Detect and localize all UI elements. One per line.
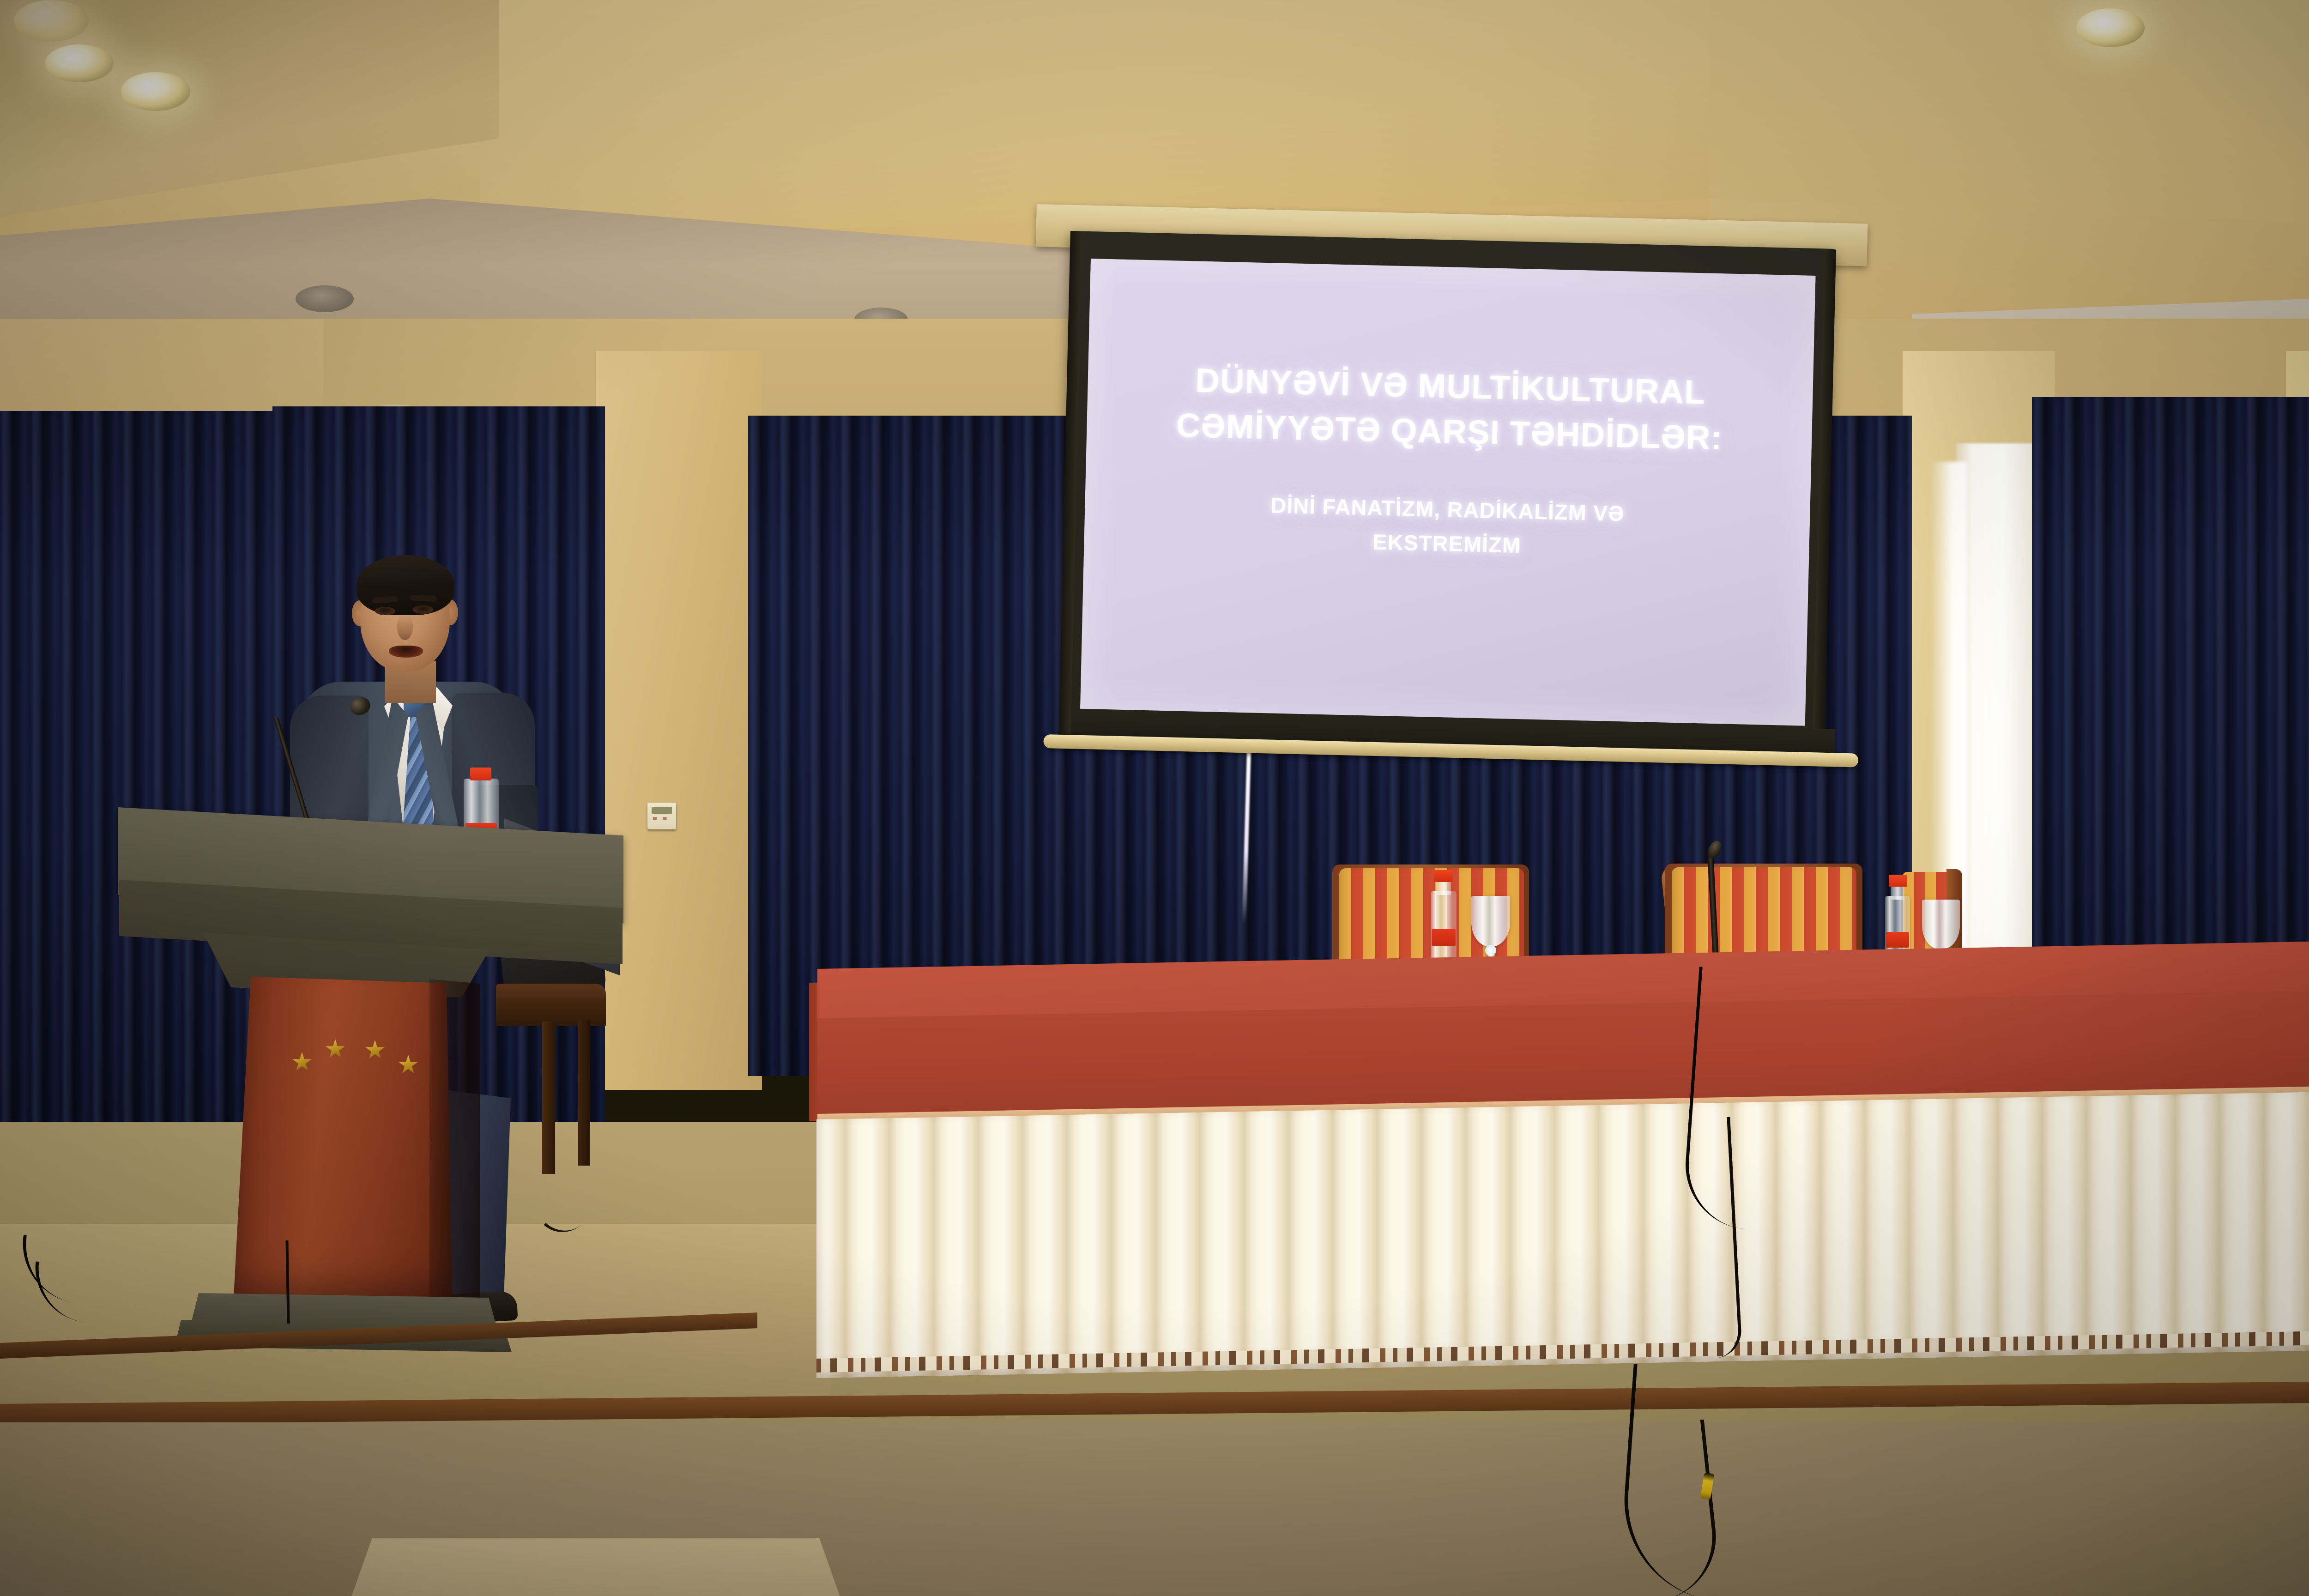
speaker-eye-right (413, 605, 433, 614)
head-table-skirt (816, 1090, 2309, 1378)
projection-screen-surface: DÜNYƏVİ VƏ MULTİKULTURAL CƏMİYYƏTƏ QARŞI… (1080, 259, 1816, 726)
water-bottle-left-cap (1434, 870, 1453, 882)
side-stool-leg (578, 1020, 590, 1166)
water-bottle-right-cap (1889, 875, 1907, 887)
floor (0, 1422, 2309, 1596)
side-stool-leg (542, 1022, 555, 1174)
wall-middle-pier (596, 351, 762, 1090)
water-bottle-right-label (1886, 932, 1909, 948)
downlight-icon (2076, 8, 2145, 47)
slide-content: DÜNYƏVİ VƏ MULTİKULTURAL CƏMİYYƏTƏ QARŞI… (1080, 259, 1816, 726)
downlight-icon (296, 285, 354, 312)
ceiling-center-panel (480, 0, 1727, 240)
downlight-icon (121, 72, 190, 111)
slide-subtitle-line-2: EKSTREMİZM (1372, 527, 1521, 561)
speaker-eye-left (375, 607, 395, 615)
goblet-right-bowl (1922, 900, 1960, 949)
slide-subtitle-line-1: DİNİ FANATİZM, RADİKALİZM VƏ (1270, 490, 1625, 529)
podium-column (233, 977, 453, 1312)
conference-hall-photo: DÜNYƏVİ VƏ MULTİKULTURAL CƏMİYYƏTƏ QARŞI… (0, 0, 2309, 1596)
podium-column-shadow (429, 979, 480, 1312)
floor-step (351, 1538, 840, 1596)
water-bottle-left-label (1432, 929, 1456, 946)
speaker-mouth (389, 646, 423, 658)
downlight-icon (45, 44, 114, 82)
downlight-icon (14, 0, 89, 42)
speaker-hair (357, 555, 454, 615)
wall-control-panel[interactable] (647, 803, 676, 829)
goblet-left-bowl (1471, 896, 1510, 947)
speaker-nose (397, 614, 413, 640)
podium-water-bottle-cap (470, 768, 491, 780)
